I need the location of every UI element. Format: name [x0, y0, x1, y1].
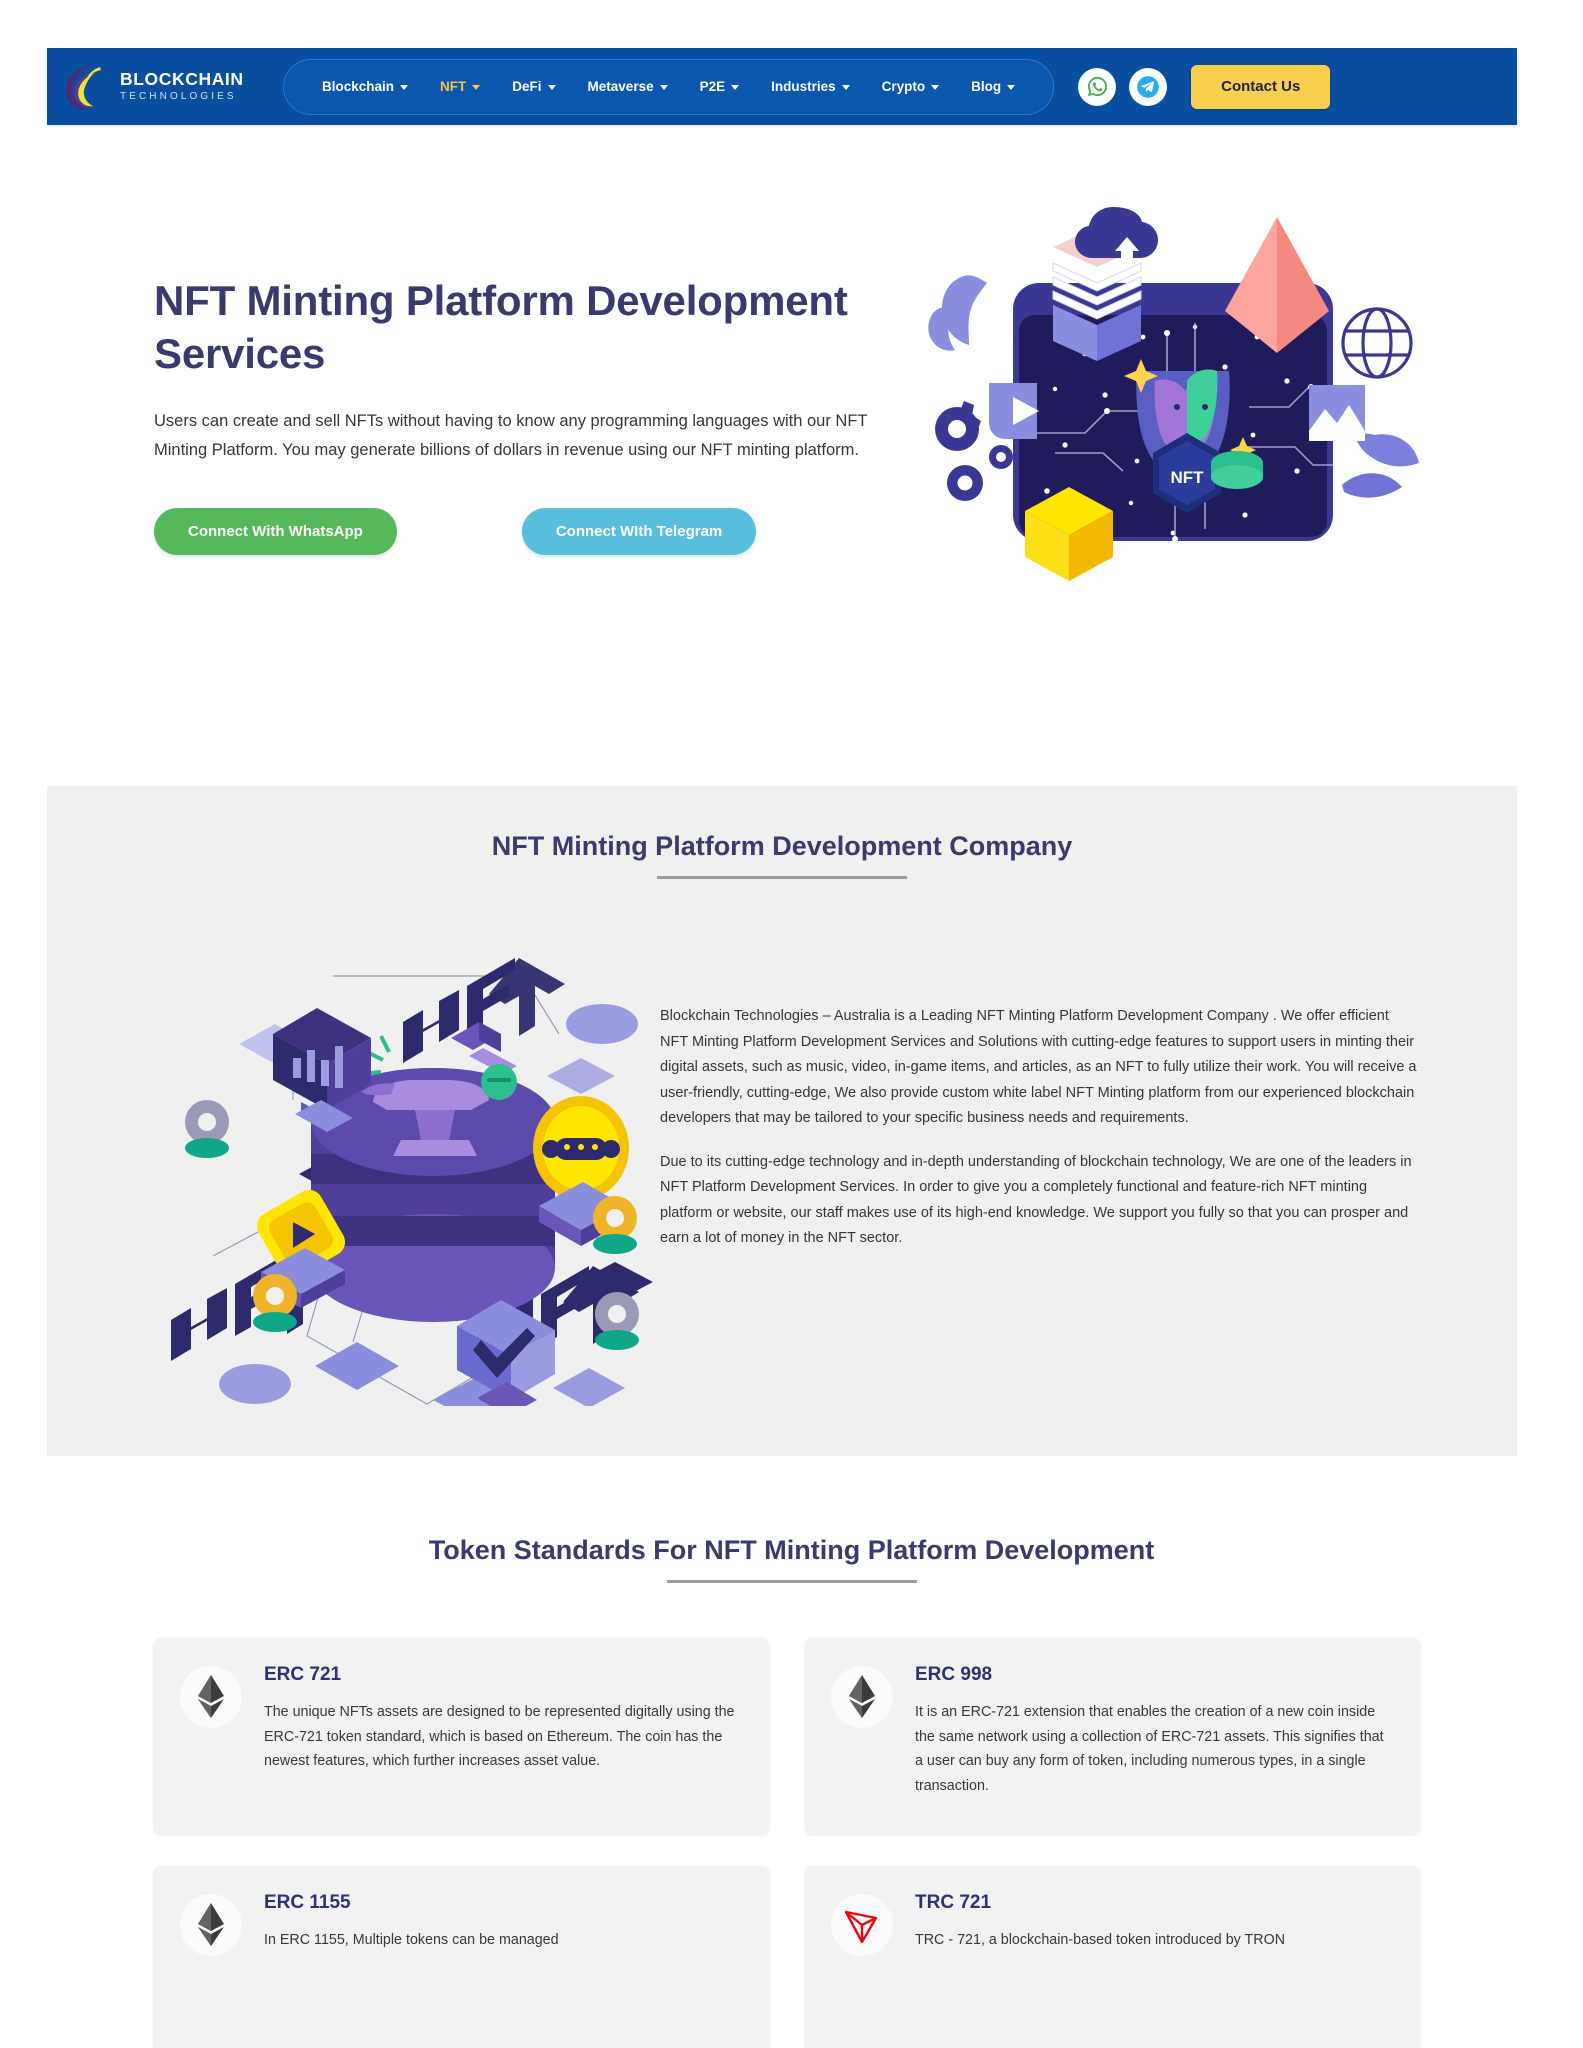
token-standards-heading-block: Token Standards For NFT Minting Platform… [0, 1490, 1583, 1583]
connect-whatsapp-button[interactable]: Connect With WhatsApp [154, 508, 397, 555]
contact-us-button[interactable]: Contact Us [1191, 65, 1330, 109]
svg-text:NFT: NFT [1170, 468, 1204, 487]
token-card-title: TRC 721 [915, 1892, 1392, 1914]
ethereum-icon [180, 1894, 242, 1956]
nav-item-industries[interactable]: Industries [755, 79, 866, 94]
nav-label: Blockchain [322, 79, 394, 94]
company-copy: Blockchain Technologies – Australia is a… [660, 1004, 1420, 1270]
title-underline [667, 1580, 917, 1583]
token-card[interactable]: ERC 721 The unique NFTs assets are desig… [154, 1638, 769, 1834]
token-card[interactable]: ERC 1155 In ERC 1155, Multiple tokens ca… [154, 1866, 769, 2048]
social-links [1078, 68, 1167, 106]
token-standards-title: Token Standards For NFT Minting Platform… [0, 1535, 1583, 1566]
token-card[interactable]: TRC 721 TRC - 721, a blockchain-based to… [805, 1866, 1420, 2048]
token-card[interactable]: ERC 998 It is an ERC-721 extension that … [805, 1638, 1420, 1834]
chevron-down-icon [472, 85, 480, 90]
ethereum-icon [180, 1666, 242, 1728]
chevron-down-icon [731, 85, 739, 90]
nav-item-p2e[interactable]: P2E [684, 79, 756, 94]
token-card-text: It is an ERC-721 extension that enables … [915, 1700, 1392, 1798]
token-card-text: TRC - 721, a blockchain-based token intr… [915, 1928, 1392, 1953]
connect-telegram-button[interactable]: Connect WIth Telegram [522, 508, 756, 555]
title-underline [657, 876, 907, 879]
main-navigation: Blockchain NFT DeFi Metaverse P2E Indust… [283, 59, 1054, 115]
chevron-down-icon [400, 85, 408, 90]
chevron-down-icon [842, 85, 850, 90]
nav-label: Blog [971, 79, 1001, 94]
chevron-down-icon [548, 85, 556, 90]
company-paragraph-1: Blockchain Technologies – Australia is a… [660, 1004, 1420, 1132]
nft-minting-isometric-illustration [147, 926, 677, 1406]
nav-item-blog[interactable]: Blog [955, 79, 1031, 94]
hero-title: NFT Minting Platform Development Service… [154, 275, 914, 381]
brand-name: BLOCKCHAIN [120, 71, 244, 89]
token-card-text: The unique NFTs assets are designed to b… [264, 1700, 741, 1774]
nav-item-metaverse[interactable]: Metaverse [572, 79, 684, 94]
nav-label: NFT [440, 79, 466, 94]
nft-wallet-illustration: NFT [905, 185, 1425, 585]
chevron-down-icon [931, 85, 939, 90]
brand-logo[interactable]: BLOCKCHAIN TECHNOLOGIES [60, 61, 275, 113]
nav-label: P2E [700, 79, 726, 94]
chevron-down-icon [1007, 85, 1015, 90]
ethereum-icon [831, 1666, 893, 1728]
token-card-title: ERC 721 [264, 1664, 741, 1686]
company-heading-block: NFT Minting Platform Development Company [47, 786, 1517, 879]
token-card-text: In ERC 1155, Multiple tokens can be mana… [264, 1928, 741, 1953]
nav-label: Industries [771, 79, 836, 94]
token-standards-card-grid: ERC 721 The unique NFTs assets are desig… [154, 1638, 1420, 2048]
nav-label: Metaverse [588, 79, 654, 94]
hero-subtitle: Users can create and sell NFTs without h… [154, 407, 874, 466]
nav-item-crypto[interactable]: Crypto [866, 79, 956, 94]
company-title: NFT Minting Platform Development Company [47, 831, 1517, 862]
token-card-title: ERC 998 [915, 1664, 1392, 1686]
nav-item-nft[interactable]: NFT [424, 79, 496, 94]
nav-label: Crypto [882, 79, 926, 94]
hero-cta-group: Connect With WhatsApp Connect WIth Teleg… [154, 508, 914, 555]
company-paragraph-2: Due to its cutting-edge technology and i… [660, 1150, 1420, 1252]
hero-section: NFT Minting Platform Development Service… [0, 125, 1583, 780]
nav-item-blockchain[interactable]: Blockchain [306, 79, 424, 94]
site-header: BLOCKCHAIN TECHNOLOGIES Blockchain NFT D… [47, 48, 1517, 125]
blockchain-swirl-logo-icon [60, 61, 108, 113]
nav-item-defi[interactable]: DeFi [496, 79, 571, 94]
hero-content: NFT Minting Platform Development Service… [154, 275, 914, 555]
brand-tagline: TECHNOLOGIES [120, 92, 244, 102]
telegram-icon[interactable] [1129, 68, 1167, 106]
token-standards-section: Token Standards For NFT Minting Platform… [0, 1490, 1583, 1583]
whatsapp-icon[interactable] [1078, 68, 1116, 106]
chevron-down-icon [660, 85, 668, 90]
tron-icon [831, 1894, 893, 1956]
company-section: NFT Minting Platform Development Company [47, 786, 1517, 1456]
token-card-title: ERC 1155 [264, 1892, 741, 1914]
nav-label: DeFi [512, 79, 541, 94]
